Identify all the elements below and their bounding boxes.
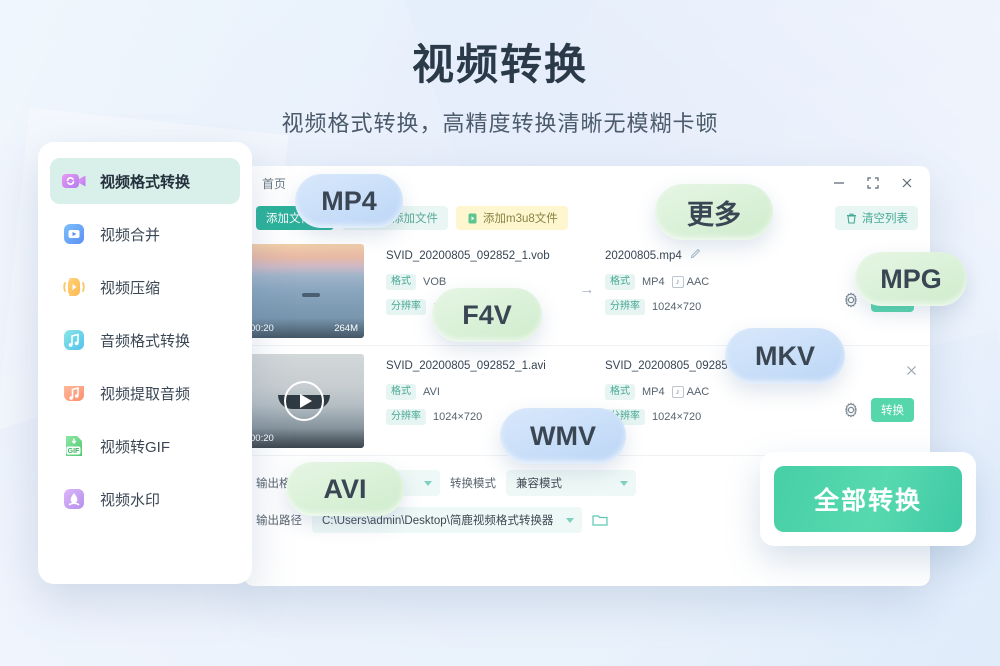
convert-mode-label: 转换模式 <box>450 475 496 491</box>
target-resolution-line: 分辨率 1024×720 <box>605 299 820 315</box>
format-bubble-mkv[interactable]: MKV <box>725 328 845 384</box>
page-title: 视频转换 <box>0 40 1000 90</box>
sidebar-item-label: 视频压缩 <box>100 277 160 298</box>
source-format-label: 格式 <box>386 274 416 290</box>
target-resolution-value: 1024×720 <box>652 301 701 313</box>
chevron-down-icon <box>566 518 574 523</box>
source-filename: SVID_20200805_092852_1.vob <box>386 248 569 265</box>
target-column: 20200805.mp4 格式 MP4 ♪ AAC 分辨率 1024×720 <box>605 244 820 315</box>
edit-pencil-icon[interactable] <box>690 248 701 265</box>
sidebar-item-label: 视频转GIF <box>100 436 170 457</box>
tab-home[interactable]: 首页 <box>254 172 294 195</box>
sidebar-item-label: 视频合并 <box>100 224 160 245</box>
sidebar-item-video-to-gif[interactable]: GIF 视频转GIF <box>50 423 240 469</box>
sidebar: 视频格式转换 视频合并 视频压缩 <box>38 142 252 584</box>
page-header: 视频转换 视频格式转换，高精度转换清晰无模糊卡顿 <box>0 40 1000 138</box>
page-subtitle: 视频格式转换，高精度转换清晰无模糊卡顿 <box>0 106 1000 138</box>
sidebar-item-label: 音频格式转换 <box>100 330 190 351</box>
close-icon[interactable] <box>900 176 914 190</box>
thumbnail-meta: 00:20 <box>244 428 364 448</box>
clear-list-label: 清空列表 <box>862 210 908 226</box>
thumbnail-boat-shape <box>302 293 320 297</box>
add-m3u8-label: 添加m3u8文件 <box>483 210 558 226</box>
chevron-down-icon <box>620 481 628 486</box>
target-format-label: 格式 <box>605 384 635 400</box>
convert-all-card: 全部转换 <box>760 452 976 546</box>
target-format-line: 格式 MP4 ♪ AAC <box>605 274 820 290</box>
sidebar-item-video-merge[interactable]: 视频合并 <box>50 211 240 257</box>
video-duration: 00:20 <box>250 433 274 444</box>
video-to-gif-icon: GIF <box>60 432 88 460</box>
minimize-icon[interactable] <box>832 176 846 190</box>
target-resolution-value: 1024×720 <box>652 411 701 423</box>
video-duration: 00:20 <box>250 323 274 334</box>
source-resolution-label: 分辨率 <box>386 409 426 425</box>
add-m3u8-button[interactable]: 添加m3u8文件 <box>456 206 568 230</box>
video-merge-icon <box>60 220 88 248</box>
svg-text:GIF: GIF <box>68 448 80 455</box>
format-bubble-avi[interactable]: AVI <box>286 462 404 516</box>
target-filename: 20200805.mp4 <box>605 248 820 265</box>
audio-note-icon: ♪ <box>672 386 684 398</box>
window-controls <box>832 176 920 190</box>
video-watermark-icon <box>60 485 88 513</box>
convert-row-button[interactable]: 转换 <box>871 398 914 422</box>
audio-note-icon: ♪ <box>672 276 684 288</box>
maximize-icon[interactable] <box>866 176 880 190</box>
sidebar-item-label: 视频水印 <box>100 489 160 510</box>
video-size: 264M <box>334 323 358 334</box>
gear-icon[interactable] <box>843 292 859 308</box>
convert-all-button[interactable]: 全部转换 <box>774 466 962 532</box>
format-bubble-wmv[interactable]: WMV <box>500 408 626 464</box>
conversion-arrow: → <box>569 244 605 334</box>
target-audio-chip: ♪ AAC <box>672 276 710 288</box>
target-resolution-label: 分辨率 <box>605 299 645 315</box>
video-thumbnail[interactable]: 00:20 <box>244 354 364 448</box>
target-audio-value: AAC <box>687 276 710 288</box>
target-format-line: 格式 MP4 ♪ AAC <box>605 384 820 400</box>
trash-icon <box>845 212 858 225</box>
sidebar-item-video-format-convert[interactable]: 视频格式转换 <box>50 158 240 204</box>
source-format-line: 格式 AVI <box>386 384 569 400</box>
extract-audio-icon <box>60 379 88 407</box>
thumbnail-meta: 00:20 264M <box>244 318 364 338</box>
source-format-value: VOB <box>423 276 446 288</box>
sidebar-item-video-compress[interactable]: 视频压缩 <box>50 264 240 310</box>
sidebar-item-audio-format-convert[interactable]: 音频格式转换 <box>50 317 240 363</box>
folder-icon[interactable] <box>592 513 608 527</box>
format-bubble-f4v[interactable]: F4V <box>432 288 542 342</box>
source-filename: SVID_20200805_092852_1.avi <box>386 358 569 375</box>
arrow-right-icon: → <box>580 281 595 298</box>
video-thumbnail[interactable]: 00:20 264M <box>244 244 364 338</box>
play-icon[interactable] <box>284 381 324 421</box>
output-path-label: 输出路径 <box>256 512 302 528</box>
target-audio-chip: ♪ AAC <box>672 386 710 398</box>
video-compress-icon <box>60 273 88 301</box>
chevron-down-icon <box>424 481 432 486</box>
target-resolution-line: 分辨率 1024×720 <box>605 409 820 425</box>
remove-row-icon[interactable] <box>905 364 918 380</box>
source-format-value: AVI <box>423 386 440 398</box>
sidebar-item-video-watermark[interactable]: 视频水印 <box>50 476 240 522</box>
clear-list-button[interactable]: 清空列表 <box>835 206 918 230</box>
convert-mode-select[interactable]: 兼容模式 <box>506 470 636 496</box>
sidebar-item-label: 视频格式转换 <box>100 171 190 192</box>
convert-mode-value: 兼容模式 <box>516 475 562 491</box>
sidebar-item-extract-audio[interactable]: 视频提取音频 <box>50 370 240 416</box>
format-bubble-mpg[interactable]: MPG <box>855 252 967 306</box>
format-bubble-more[interactable]: 更多 <box>655 184 773 240</box>
video-convert-icon <box>60 167 88 195</box>
target-format-label: 格式 <box>605 274 635 290</box>
target-format-value: MP4 <box>642 276 665 288</box>
source-format-label: 格式 <box>386 384 416 400</box>
target-format-value: MP4 <box>642 386 665 398</box>
audio-convert-icon <box>60 326 88 354</box>
source-resolution-value: 1024×720 <box>433 411 482 423</box>
gear-icon[interactable] <box>843 402 859 418</box>
m3u8-file-icon <box>466 212 479 225</box>
format-bubble-mp4[interactable]: MP4 <box>295 174 403 228</box>
target-filename-text: 20200805.mp4 <box>605 250 682 262</box>
target-audio-value: AAC <box>687 386 710 398</box>
sidebar-item-label: 视频提取音频 <box>100 383 190 404</box>
source-resolution-label: 分辨率 <box>386 299 426 315</box>
